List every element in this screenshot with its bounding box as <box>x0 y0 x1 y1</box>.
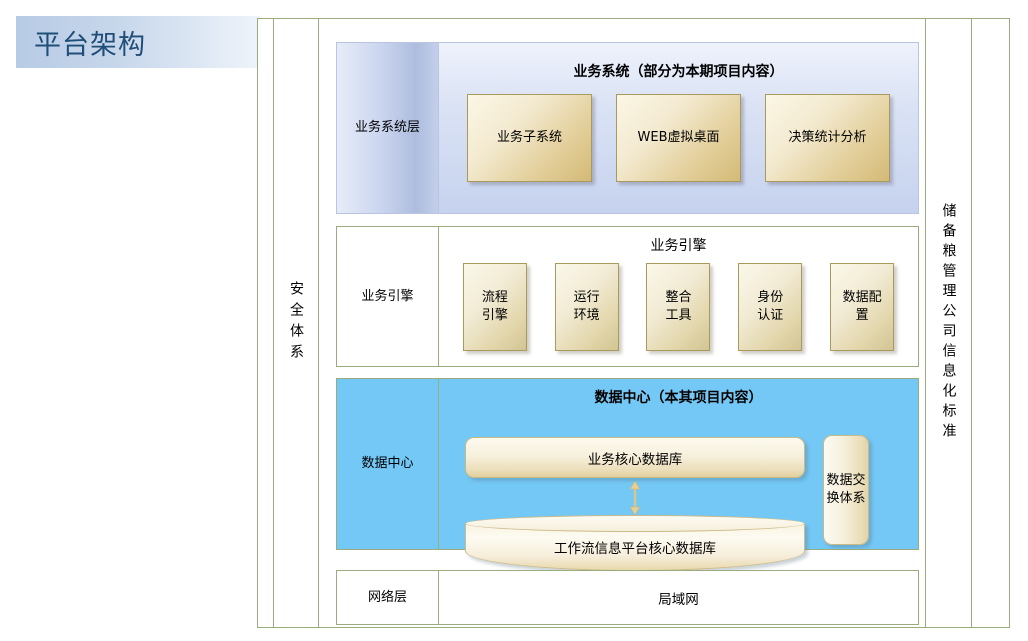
data-center-inner: 业务核心数据库 工作流信息平台核心数据库 数据交换体系 <box>439 407 918 577</box>
layer-body-data-center: 数据中心（本其项目内容） 业务核心数据库 工作流信息平台核心数据库 数据交换体系 <box>439 379 918 549</box>
informatization-standard-label: 储备粮管理公司信息化标准 <box>942 203 956 443</box>
layer-body-business-systems: 业务系统（部分为本期项目内容） 业务子系统 WEB虚拟桌面 决策统计分析 <box>439 43 918 213</box>
layer-label-data-center: 数据中心 <box>337 379 439 549</box>
layer-label-business-systems: 业务系统层 <box>337 43 439 213</box>
informatization-standard-band: 储备粮管理公司信息化标准 <box>925 18 972 628</box>
layer-value-network: 局域网 <box>439 571 918 624</box>
business-box-decision-statistics[interactable]: 决策统计分析 <box>765 94 890 182</box>
security-system-label: 安全体系 <box>289 281 303 365</box>
business-engine-box-strip: 流程 引擎 运行 环境 整合 工具 身份 认证 数据配 置 <box>439 263 918 351</box>
data-exchange-system-box[interactable]: 数据交换体系 <box>823 435 869 545</box>
double-arrow-vertical-icon <box>628 481 642 515</box>
layer-label-network: 网络层 <box>337 571 439 624</box>
engine-box-integration-tools[interactable]: 整合 工具 <box>646 263 710 351</box>
layer-header-business-engine: 业务引擎 <box>439 227 918 255</box>
business-systems-box-strip: 业务子系统 WEB虚拟桌面 决策统计分析 <box>439 94 918 182</box>
security-system-band: 安全体系 <box>273 18 319 628</box>
workflow-platform-core-database-cylinder[interactable]: 工作流信息平台核心数据库 <box>465 515 805 575</box>
layer-row-data-center: 数据中心 数据中心（本其项目内容） 业务核心数据库 工作流信息平台核心数据库 数… <box>336 378 919 550</box>
layer-row-network: 网络层 局域网 <box>336 570 919 625</box>
core-business-database-box[interactable]: 业务核心数据库 <box>465 437 805 478</box>
engine-box-identity-authentication[interactable]: 身份 认证 <box>738 263 802 351</box>
layer-header-data-center: 数据中心（本其项目内容） <box>439 379 918 407</box>
cylinder-label: 工作流信息平台核心数据库 <box>465 537 805 557</box>
engine-box-data-configuration[interactable]: 数据配 置 <box>830 263 894 351</box>
page-title: 平台架构 <box>16 23 146 62</box>
layer-label-business-engine: 业务引擎 <box>337 227 439 366</box>
cylinder-top-ellipse <box>465 515 805 532</box>
layer-row-business-systems: 业务系统层 业务系统（部分为本期项目内容） 业务子系统 WEB虚拟桌面 决策统计… <box>336 42 919 214</box>
engine-box-runtime-environment[interactable]: 运行 环境 <box>555 263 619 351</box>
business-box-web-virtual-desktop[interactable]: WEB虚拟桌面 <box>616 94 741 182</box>
business-box-subsystem[interactable]: 业务子系统 <box>467 94 592 182</box>
layer-row-business-engine: 业务引擎 业务引擎 流程 引擎 运行 环境 整合 工具 身份 认证 数据配 置 <box>336 226 919 367</box>
layer-header-business-systems: 业务系统（部分为本期项目内容） <box>439 43 918 81</box>
engine-box-process-engine[interactable]: 流程 引擎 <box>463 263 527 351</box>
layer-body-business-engine: 业务引擎 流程 引擎 运行 环境 整合 工具 身份 认证 数据配 置 <box>439 227 918 366</box>
page-title-banner: 平台架构 <box>16 16 260 68</box>
